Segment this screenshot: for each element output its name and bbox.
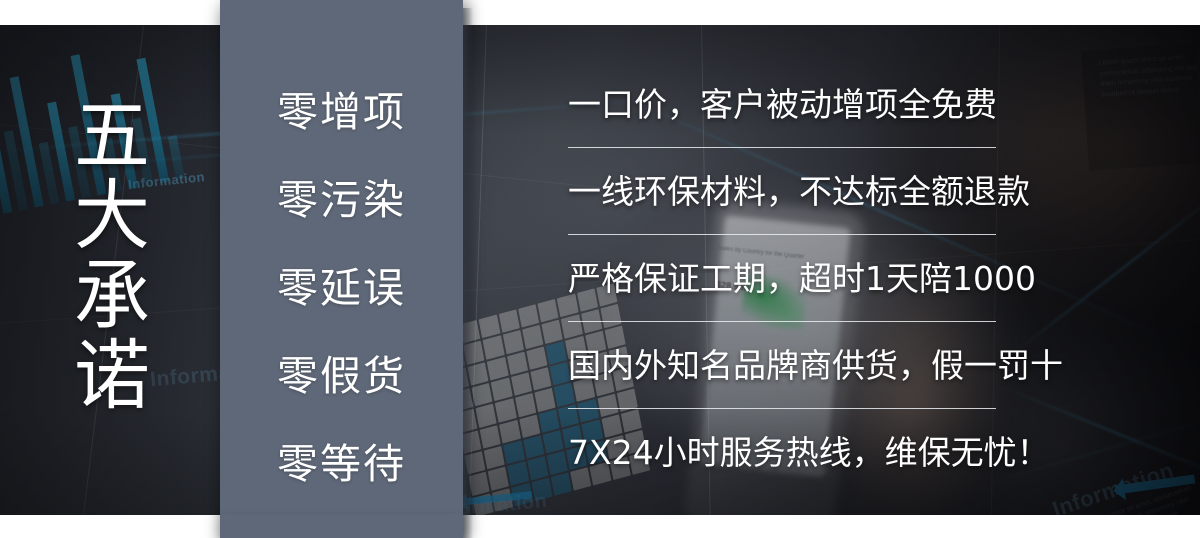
panel-top-overhang <box>220 0 463 26</box>
promise-row: 严格保证工期，超时1天陪1000 <box>568 244 1008 331</box>
headline-char-3: 承 <box>64 256 160 336</box>
promise-row-text-1: 一口价，客户被动增项全免费 <box>568 70 1008 140</box>
headline-char-1: 五 <box>64 96 160 176</box>
watermark-body-corner: Lorem ipsum dolor sit amet consectetuer … <box>1099 51 1200 101</box>
promise-row-text-5: 7X24小时服务热线，维保无忧！ <box>568 418 1008 488</box>
panel-item-zero-delay[interactable]: 零延误 <box>220 244 463 332</box>
promise-keywords-list: 零增项 零污染 零延误 零假货 零等待 <box>220 68 463 508</box>
promise-row-text-2: 一线环保材料，不达标全额退款 <box>568 157 1008 227</box>
promise-row: 一线环保材料，不达标全额退款 <box>568 157 1008 244</box>
row-divider <box>568 408 996 409</box>
promise-detail-list: 一口价，客户被动增项全免费 一线环保材料，不达标全额退款 严格保证工期，超时1天… <box>568 70 1008 505</box>
page-title: 五 大 承 诺 <box>64 96 160 416</box>
promise-row-text-4: 国内外知名品牌商供货，假一罚十 <box>568 331 1008 401</box>
promise-row: 一口价，客户被动增项全免费 <box>568 70 1008 157</box>
promise-row: 7X24小时服务热线，维保无忧！ <box>568 418 1008 505</box>
promise-keywords-panel: 零增项 零污染 零延误 零假货 零等待 <box>220 0 463 538</box>
panel-bottom-overhang <box>220 514 463 538</box>
headline-char-2: 大 <box>64 176 160 256</box>
panel-item-zero-addon[interactable]: 零增项 <box>220 68 463 156</box>
bottom-white-strip <box>0 515 1200 538</box>
headline-char-4: 诺 <box>64 336 160 416</box>
promise-row: 国内外知名品牌商供货，假一罚十 <box>568 331 1008 418</box>
panel-item-zero-fake-goods[interactable]: 零假货 <box>220 332 463 420</box>
promise-banner: Sales by Country for the Quarter $28.9m <box>0 0 1200 538</box>
row-divider <box>568 147 996 148</box>
row-divider <box>568 321 996 322</box>
top-white-strip <box>0 0 1200 25</box>
panel-item-zero-waiting[interactable]: 零等待 <box>220 420 463 508</box>
promise-row-text-3: 严格保证工期，超时1天陪1000 <box>568 244 1008 314</box>
panel-item-zero-pollution[interactable]: 零污染 <box>220 156 463 244</box>
row-divider <box>568 234 996 235</box>
